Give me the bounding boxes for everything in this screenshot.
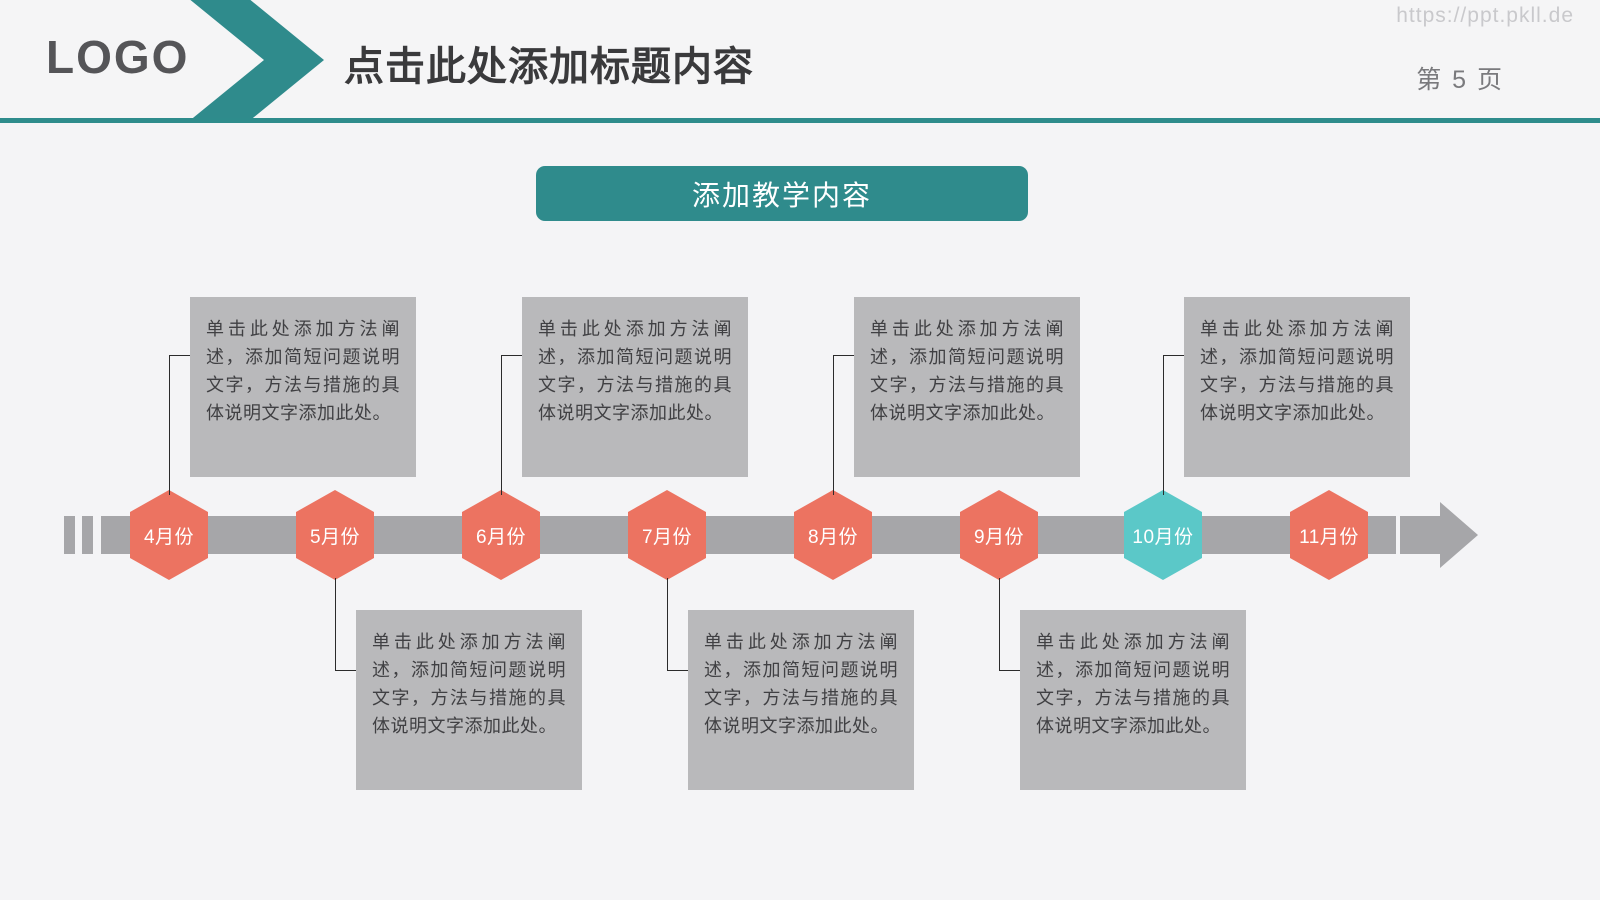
milestone-hexagon-8[interactable]: 11月份 [1290,490,1368,580]
milestone-label-2: 5月份 [310,522,360,549]
timeline-text-box-above-2[interactable]: 单击此处添加方法阐述，添加简短问题说明文字，方法与措施的具体说明文字添加此处。 [522,297,748,477]
page-title: 点击此处添加标题内容 [344,34,754,92]
timeline-text-below-3: 单击此处添加方法阐述，添加简短问题说明文字，方法与措施的具体说明文字添加此处。 [1036,628,1230,740]
timeline-text-box-below-1[interactable]: 单击此处添加方法阐述，添加简短问题说明文字，方法与措施的具体说明文字添加此处。 [356,610,582,790]
timeline-text-below-1: 单击此处添加方法阐述，添加简短问题说明文字，方法与措施的具体说明文字添加此处。 [372,628,566,740]
milestone-label-8: 11月份 [1299,522,1359,549]
slide-header: LOGO 点击此处添加标题内容 https://ppt.pkll.de 第 5 … [0,0,1600,122]
bar-dash-segment-2 [82,516,93,554]
connector-above-4-horizontal [1163,355,1185,356]
connector-below-1-vertical [335,578,336,670]
connector-below-3-horizontal [999,670,1021,671]
milestone-label-6: 9月份 [974,522,1024,549]
milestone-label-3: 6月份 [476,522,526,549]
milestone-label-1: 4月份 [144,522,194,549]
timeline-text-box-above-3[interactable]: 单击此处添加方法阐述，添加简短问题说明文字，方法与措施的具体说明文字添加此处。 [854,297,1080,477]
timeline-text-box-below-3[interactable]: 单击此处添加方法阐述，添加简短问题说明文字，方法与措施的具体说明文字添加此处。 [1020,610,1246,790]
connector-above-3-horizontal [833,355,855,356]
timeline-text-below-2: 单击此处添加方法阐述，添加简短问题说明文字，方法与措施的具体说明文字添加此处。 [704,628,898,740]
timeline-text-box-below-2[interactable]: 单击此处添加方法阐述，添加简短问题说明文字，方法与措施的具体说明文字添加此处。 [688,610,914,790]
bar-dash-segment-end-1 [1372,516,1394,554]
timeline-text-box-above-4[interactable]: 单击此处添加方法阐述，添加简短问题说明文字，方法与措施的具体说明文字添加此处。 [1184,297,1410,477]
milestone-hexagon-2[interactable]: 5月份 [296,490,374,580]
connector-below-2-vertical [667,578,668,670]
milestone-label-7: 10月份 [1132,522,1193,549]
timeline-text-above-4: 单击此处添加方法阐述，添加简短问题说明文字，方法与措施的具体说明文字添加此处。 [1200,315,1394,427]
milestone-hexagon-3[interactable]: 6月份 [462,490,540,580]
logo: LOGO [46,30,189,84]
milestone-hexagon-1[interactable]: 4月份 [130,490,208,580]
milestone-hexagon-7[interactable]: 10月份 [1124,490,1202,580]
arrow-right-icon [1412,502,1478,568]
milestone-hexagon-5[interactable]: 8月份 [794,490,872,580]
timeline-text-above-1: 单击此处添加方法阐述，添加简短问题说明文字，方法与措施的具体说明文字添加此处。 [206,315,400,427]
connector-above-4-vertical [1163,355,1164,495]
timeline-text-above-3: 单击此处添加方法阐述，添加简短问题说明文字，方法与措施的具体说明文字添加此处。 [870,315,1064,427]
connector-below-1-horizontal [335,670,357,671]
timeline-text-above-2: 单击此处添加方法阐述，添加简短问题说明文字，方法与措施的具体说明文字添加此处。 [538,315,732,427]
connector-above-2-horizontal [501,355,523,356]
watermark-url: https://ppt.pkll.de [1396,4,1574,28]
connector-below-2-horizontal [667,670,689,671]
milestone-hexagon-6[interactable]: 9月份 [960,490,1038,580]
header-divider [0,118,1600,123]
chevron-icon [188,0,328,126]
connector-above-2-vertical [501,355,502,495]
page-number: 第 5 页 [1416,60,1504,96]
milestone-hexagon-4[interactable]: 7月份 [628,490,706,580]
timeline-text-box-above-1[interactable]: 单击此处添加方法阐述，添加简短问题说明文字，方法与措施的具体说明文字添加此处。 [190,297,416,477]
milestone-label-5: 8月份 [808,522,858,549]
milestone-label-4: 7月份 [642,522,692,549]
bar-dash-segment-1 [64,516,75,554]
connector-below-3-vertical [999,578,1000,670]
connector-above-3-vertical [833,355,834,495]
section-banner-label: 添加教学内容 [692,174,872,214]
connector-above-1-horizontal [169,355,191,356]
section-banner: 添加教学内容 [536,166,1028,221]
connector-above-1-vertical [169,355,170,495]
